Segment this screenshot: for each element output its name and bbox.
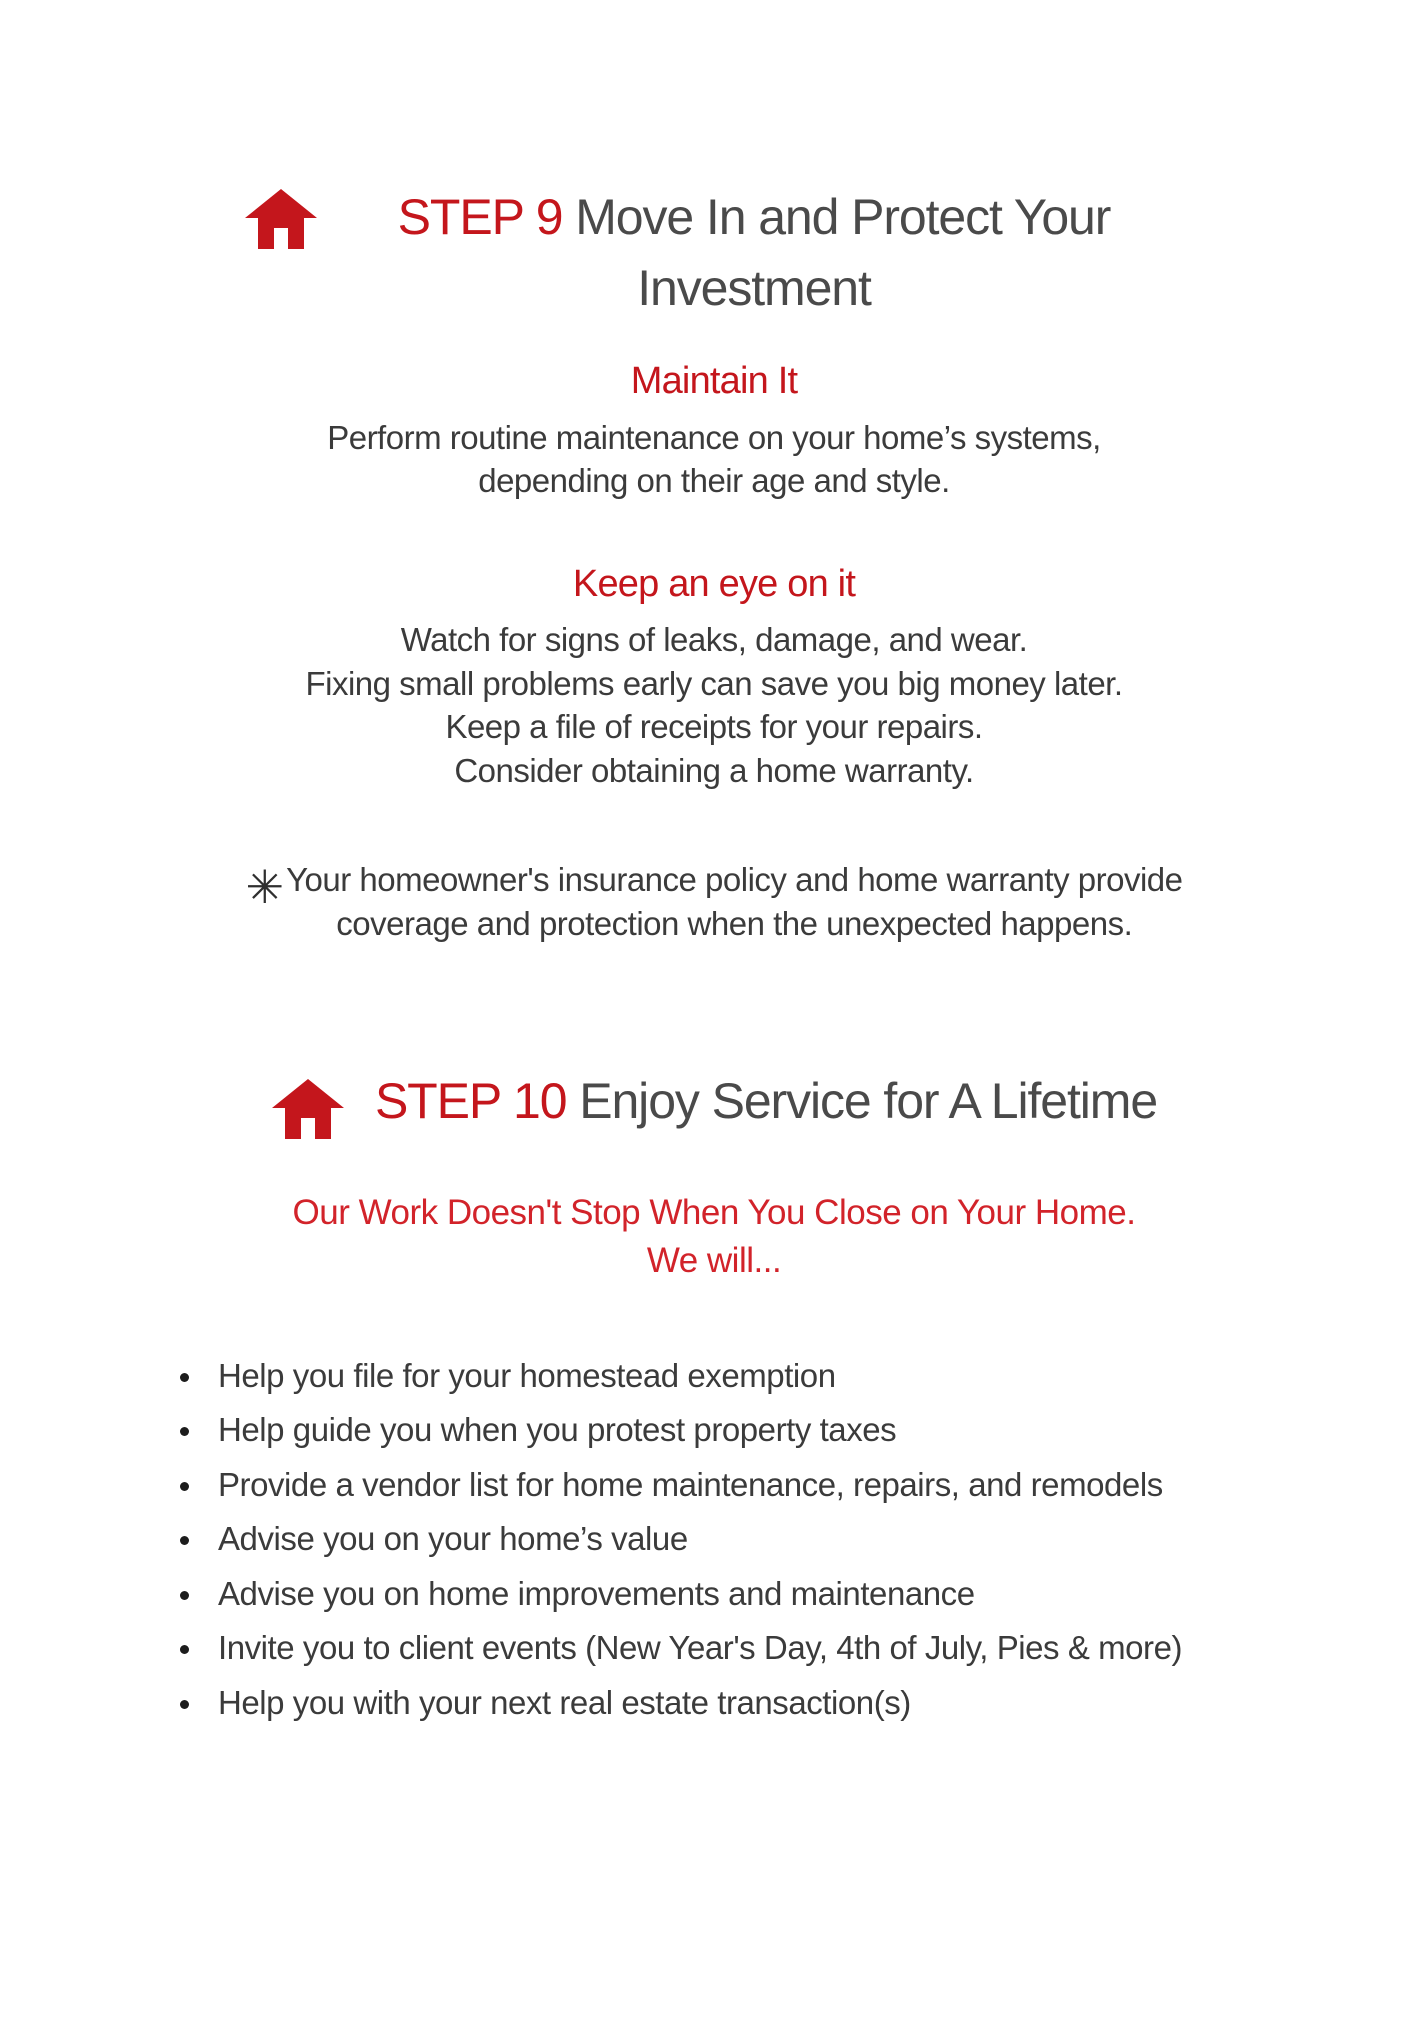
step-9-number: STEP 9	[398, 189, 563, 245]
house-icon	[244, 188, 318, 255]
section-heading-keep-an-eye-on-it: Keep an eye on it	[0, 561, 1428, 609]
list-item: Advise you on your home’s value	[172, 1517, 1428, 1561]
house-icon	[271, 1078, 345, 1145]
body-line: Consider obtaining a home warranty.	[0, 749, 1428, 793]
body-line: depending on their age and style.	[0, 459, 1428, 503]
list-item: Provide a vendor list for home maintenan…	[172, 1463, 1428, 1507]
note-line: Your homeowner's insurance policy and ho…	[286, 858, 1182, 902]
section-body-keep-an-eye-on-it: Watch for signs of leaks, damage, and we…	[0, 618, 1428, 792]
step-9-heading-row: STEP 9 Move In and Protect Your Investme…	[0, 182, 1428, 324]
body-line: Fixing small problems early can save you…	[0, 662, 1428, 706]
asterisk-note-text: Your homeowner's insurance policy and ho…	[286, 858, 1182, 946]
body-line: Watch for signs of leaks, damage, and we…	[0, 618, 1428, 662]
list-item: Help guide you when you protest property…	[172, 1408, 1428, 1452]
step-10-title-text: Enjoy Service for A Lifetime	[566, 1073, 1157, 1129]
step-9-title-text: Move In and Protect Your Investment	[562, 189, 1110, 316]
note-line: coverage and protection when the unexpec…	[286, 902, 1182, 946]
step-10-subtitle: Our Work Doesn't Stop When You Close on …	[0, 1189, 1428, 1286]
step-9-title: STEP 9 Move In and Protect Your Investme…	[324, 182, 1184, 324]
list-item: Help you file for your homestead exempti…	[172, 1354, 1428, 1398]
section-body-maintain-it: Perform routine maintenance on your home…	[0, 416, 1428, 503]
section-heading-maintain-it: Maintain It	[0, 358, 1428, 406]
asterisk-note: ✳ Your homeowner's insurance policy and …	[0, 858, 1428, 946]
body-line: Keep a file of receipts for your repairs…	[0, 705, 1428, 749]
step-10-number: STEP 10	[375, 1073, 567, 1129]
list-item: Advise you on home improvements and main…	[172, 1572, 1428, 1616]
subtitle-line: Our Work Doesn't Stop When You Close on …	[0, 1189, 1428, 1237]
list-item: Help you with your next real estate tran…	[172, 1681, 1428, 1725]
step-10-service-list: Help you file for your homestead exempti…	[0, 1354, 1428, 1725]
list-item: Invite you to client events (New Year's …	[172, 1626, 1428, 1670]
body-line: Perform routine maintenance on your home…	[0, 416, 1428, 460]
asterisk-icon: ✳	[246, 864, 285, 946]
step-10-heading-row: STEP 10 Enjoy Service for A Lifetime	[0, 1066, 1428, 1145]
subtitle-line: We will...	[0, 1237, 1428, 1285]
document-page: STEP 9 Move In and Protect Your Investme…	[0, 0, 1428, 2028]
step-10-title: STEP 10 Enjoy Service for A Lifetime	[375, 1066, 1157, 1137]
